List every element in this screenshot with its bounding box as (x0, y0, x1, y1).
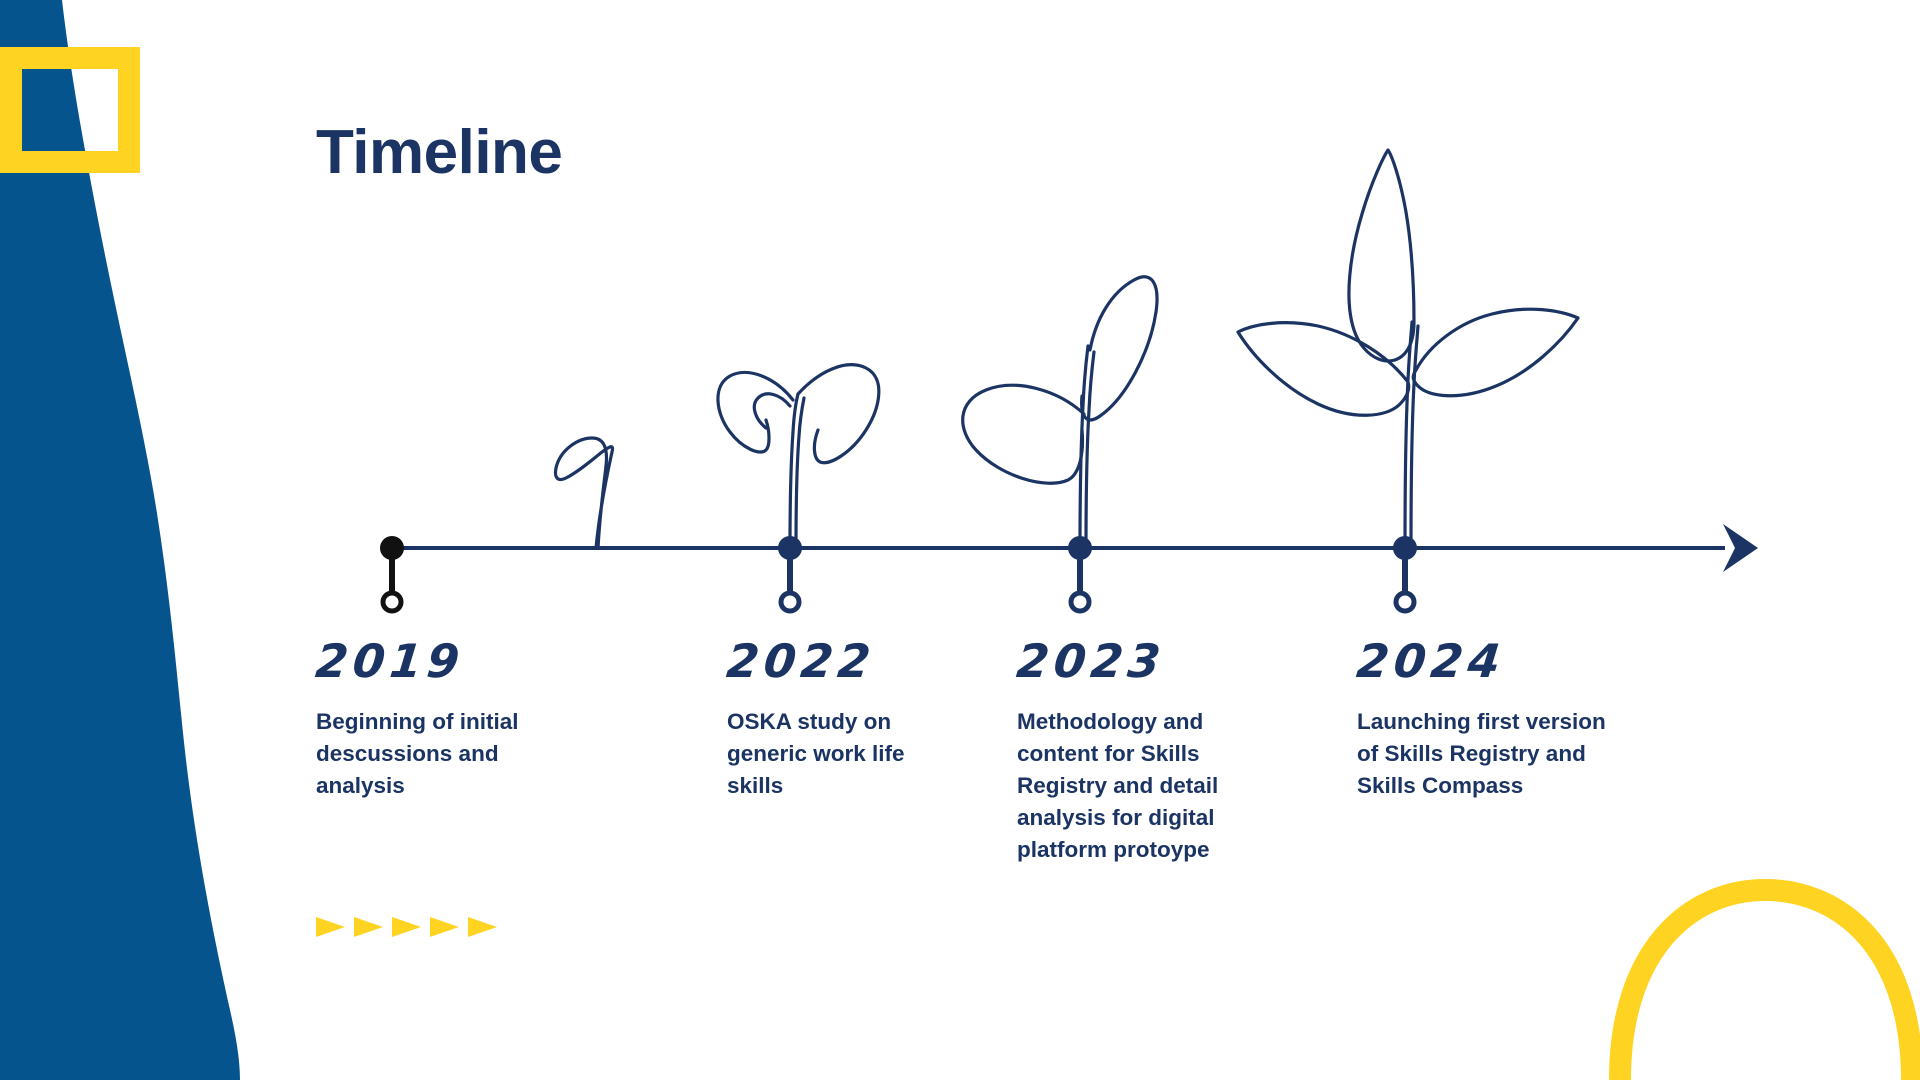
chevron-arrow-icon (354, 917, 383, 937)
milestone-marker-2022[interactable] (778, 536, 802, 611)
chevron-arrow-icon (316, 917, 345, 937)
milestone-description-2019: Beginning of initial descussions and ana… (316, 706, 576, 802)
milestone-year-2024: 2024 (1355, 638, 1618, 684)
milestone-year-2019: 2019 (314, 638, 579, 684)
milestone-description-2022: OSKA study on generic work life skills (727, 706, 957, 802)
milestone-marker-2024[interactable] (1393, 536, 1417, 611)
milestone-2019: 2019 Beginning of initial descussions an… (316, 638, 576, 802)
milestone-year-2022: 2022 (725, 638, 960, 684)
milestone-description-2024: Launching first version of Skills Regist… (1357, 706, 1615, 802)
timeline-graphic (0, 0, 1920, 1080)
timeline-arrowhead (1723, 524, 1758, 572)
milestone-marker-2023[interactable] (1068, 536, 1092, 611)
milestone-2024: 2024 Launching first version of Skills R… (1357, 638, 1615, 802)
plant-sprout-2019 (555, 438, 612, 548)
chevron-arrow-icon (392, 917, 421, 937)
milestone-year-2023: 2023 (1015, 638, 1272, 684)
milestone-2023: 2023 Methodology and content for Skills … (1017, 638, 1269, 866)
plant-sprout-2024 (1238, 150, 1578, 548)
plant-sprout-2023 (963, 277, 1157, 548)
timeline-slide: Timeline (0, 0, 1920, 1080)
plant-sprout-2022 (718, 365, 879, 548)
milestone-2022: 2022 OSKA study on generic work life ski… (727, 638, 957, 802)
yellow-chevron-arrows (316, 917, 497, 937)
chevron-arrow-icon (430, 917, 459, 937)
chevron-arrow-icon (468, 917, 497, 937)
milestone-description-2023: Methodology and content for Skills Regis… (1017, 706, 1269, 866)
milestone-marker-2019[interactable] (380, 536, 404, 611)
